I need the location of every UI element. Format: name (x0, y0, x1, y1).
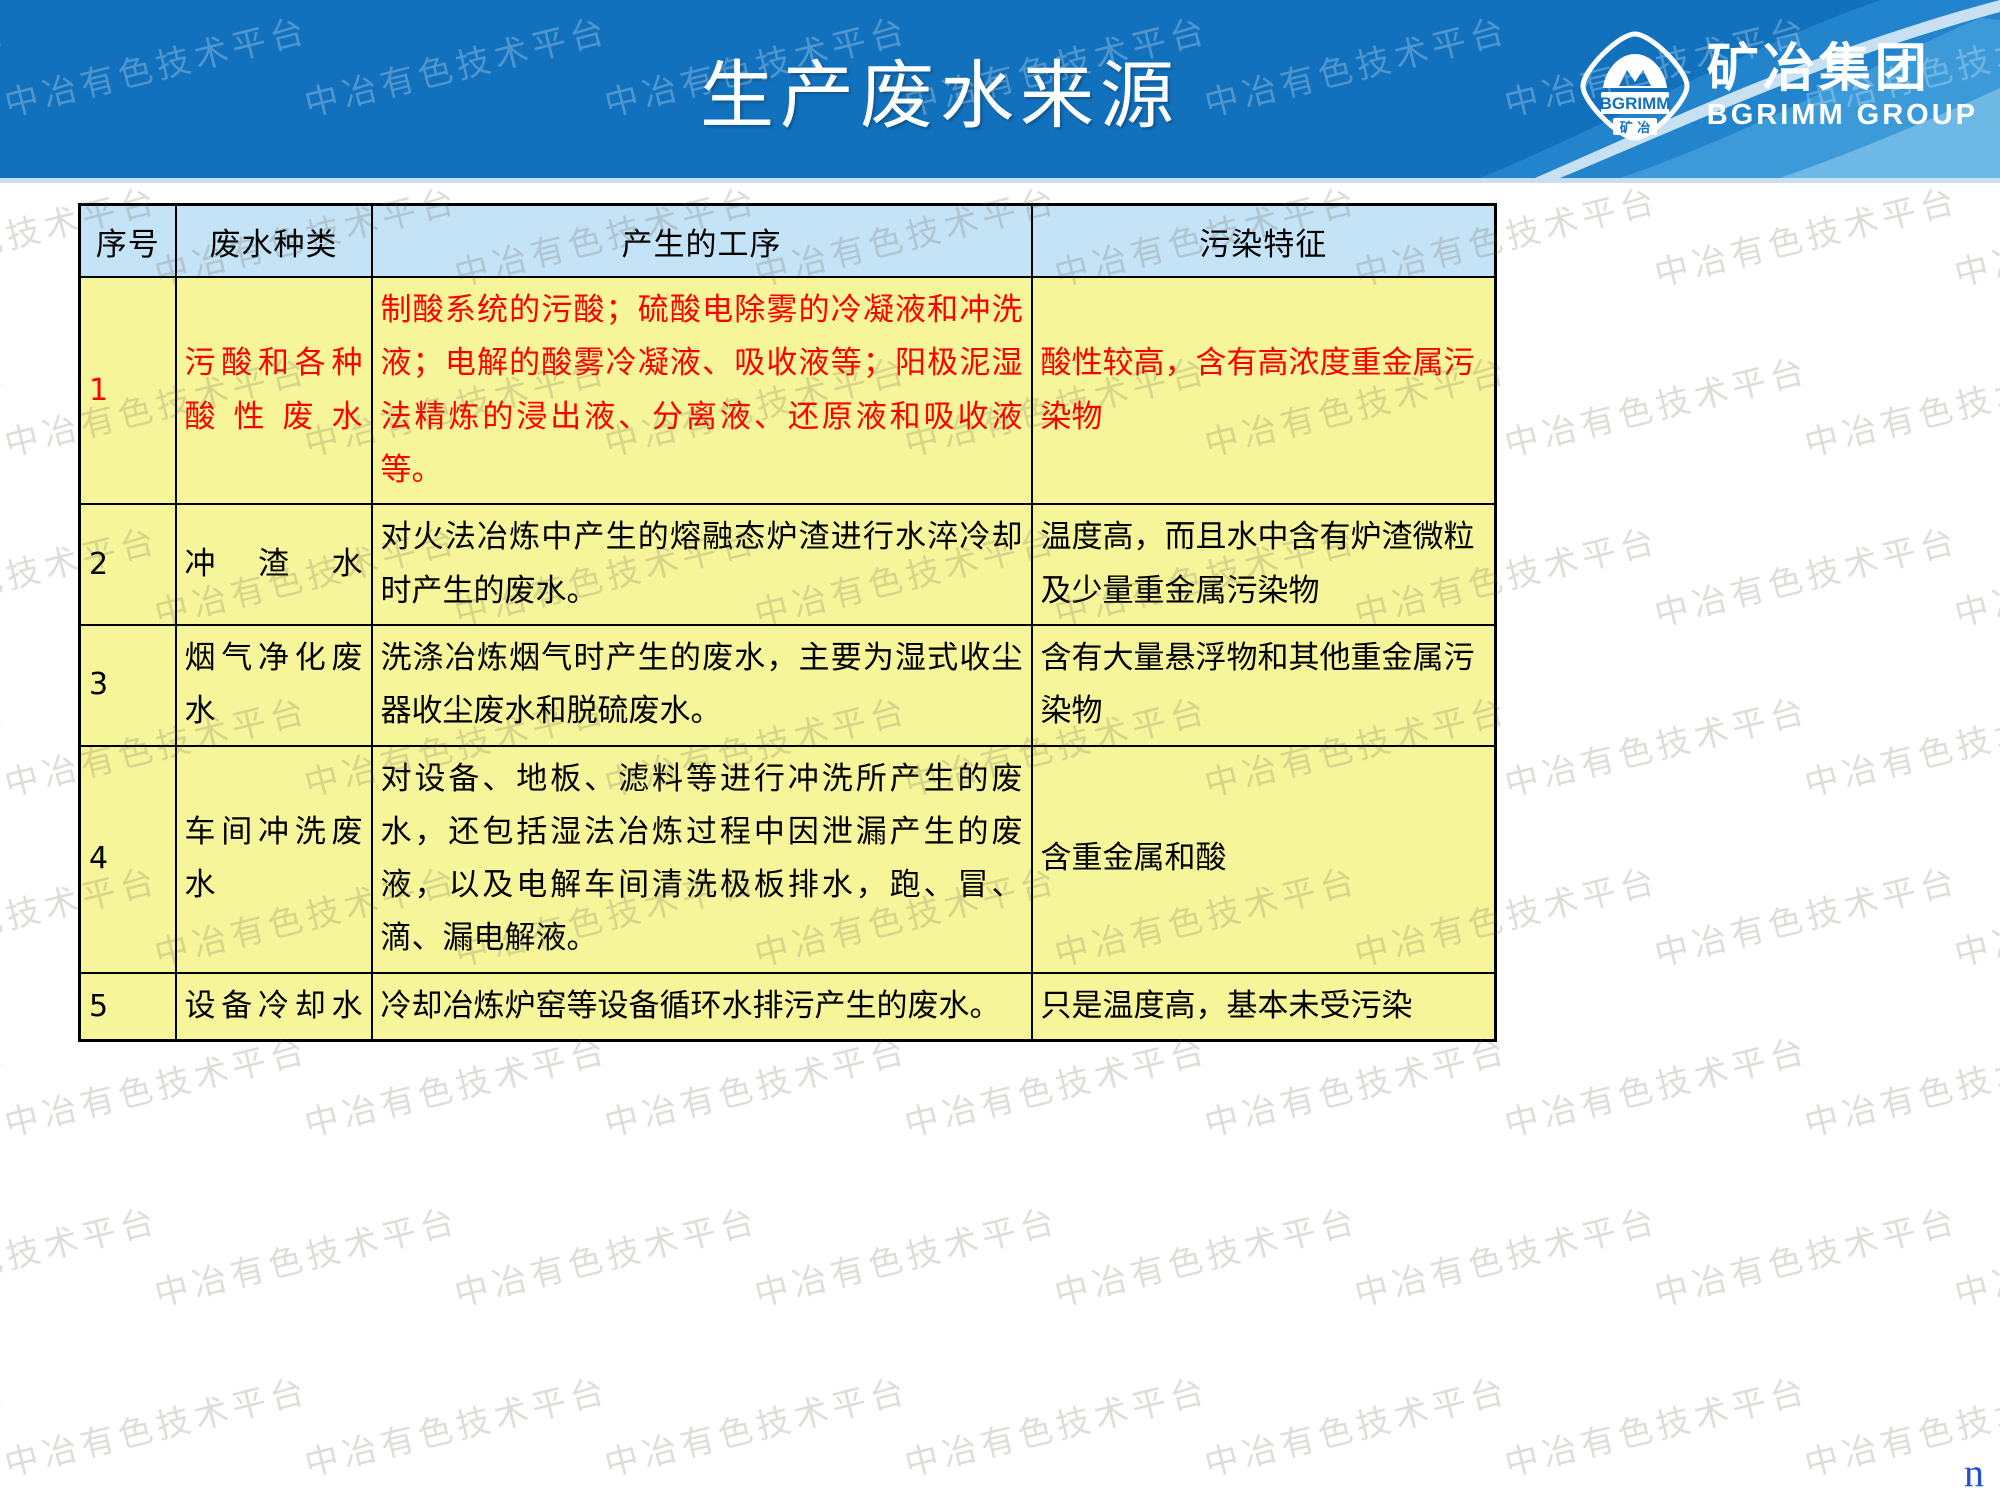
column-header-no: 序号 (80, 205, 176, 278)
cell-process: 对设备、地板、滤料等进行冲洗所产生的废水，还包括湿法冶炼过程中因泄漏产生的废液，… (372, 746, 1032, 973)
cell-type: 烟气净化废水 (176, 625, 372, 746)
watermark-text: 中冶有色技术平台 (1949, 513, 2000, 636)
table-row: 4 车间冲洗废水 对设备、地板、滤料等进行冲洗所产生的废水，还包括湿法冶炼过程中… (80, 746, 1496, 973)
watermark-text: 中冶有色技术平台 (1949, 1193, 2000, 1316)
cell-type: 污酸和各种酸性废水 (176, 277, 372, 504)
corner-text: n (1964, 1449, 1984, 1496)
wastewater-sources-table: 序号 废水种类 产生的工序 污染特征 1 污酸和各种酸性废水 制酸系统的污酸；硫… (78, 203, 1497, 1042)
cell-feature: 含重金属和酸 (1032, 746, 1496, 973)
header-banner: 生产废水来源 BGRIMM 矿 冶 矿冶集团 BGRIMM GROUP (0, 0, 2000, 178)
cell-feature: 温度高，而且水中含有炉渣微粒及少量重金属污染物 (1032, 504, 1496, 625)
watermark-text: 中冶有色技术平台 (1049, 1193, 1364, 1316)
cell-feature: 酸性较高，含有高浓度重金属污染物 (1032, 277, 1496, 504)
watermark-text: 中冶有色技术平台 (1949, 853, 2000, 976)
watermark-text: 中冶有色技术平台 (0, 1023, 13, 1146)
table-row: 5 设备冷却水 冷却冶炼炉窑等设备循环水排污产生的废水。 只是温度高，基本未受污… (80, 973, 1496, 1041)
column-header-feature: 污染特征 (1032, 205, 1496, 278)
watermark-text: 中冶有色技术平台 (1499, 343, 1814, 466)
cell-process: 制酸系统的污酸；硫酸电除雾的冷凝液和冲洗液；电解的酸雾冷凝液、吸收液等；阳极泥湿… (372, 277, 1032, 504)
cell-type: 设备冷却水 (176, 973, 372, 1041)
logo-company-en: BGRIMM GROUP (1707, 101, 1978, 130)
watermark-text: 中冶有色技术平台 (1949, 173, 2000, 296)
cell-no: 5 (80, 973, 176, 1041)
cell-process: 冷却冶炼炉窑等设备循环水排污产生的废水。 (372, 973, 1032, 1041)
table-row: 2 冲渣水 对火法冶炼中产生的熔融态炉渣进行水淬冷却时产生的废水。 温度高，而且… (80, 504, 1496, 625)
cell-process: 洗涤冶炼烟气时产生的废水，主要为湿式收尘器收尘废水和脱硫废水。 (372, 625, 1032, 746)
watermark-text: 中冶有色技术平台 (1649, 513, 1964, 636)
cell-no: 1 (80, 277, 176, 504)
watermark-text: 中冶有色技术平台 (1499, 1023, 1814, 1146)
watermark-text: 中冶有色技术平台 (1499, 683, 1814, 806)
watermark-text: 中冶有色技术平台 (1799, 1023, 2000, 1146)
cell-process: 对火法冶炼中产生的熔融态炉渣进行水淬冷却时产生的废水。 (372, 504, 1032, 625)
logo-company-cn: 矿冶集团 (1707, 43, 1978, 95)
cell-feature: 含有大量悬浮物和其他重金属污染物 (1032, 625, 1496, 746)
watermark-text: 中冶有色技术平台 (599, 1363, 914, 1486)
watermark-text: 中冶有色技术平台 (1649, 1193, 1964, 1316)
svg-text:BGRIMM: BGRIMM (1599, 94, 1670, 113)
watermark-text: 中冶有色技术平台 (1199, 1363, 1514, 1486)
logo-text-block: 矿冶集团 BGRIMM GROUP (1707, 43, 1978, 130)
table-row: 1 污酸和各种酸性废水 制酸系统的污酸；硫酸电除雾的冷凝液和冲洗液；电解的酸雾冷… (80, 277, 1496, 504)
column-header-type: 废水种类 (176, 205, 372, 278)
cell-no: 3 (80, 625, 176, 746)
column-header-process: 产生的工序 (372, 205, 1032, 278)
watermark-text: 中冶有色技术平台 (749, 1193, 1064, 1316)
watermark-text: 中冶有色技术平台 (1799, 343, 2000, 466)
watermark-text: 中冶有色技术平台 (449, 1193, 764, 1316)
cell-no: 4 (80, 746, 176, 973)
bgrimm-logo: BGRIMM 矿 冶 矿冶集团 BGRIMM GROUP (1579, 30, 1978, 142)
cell-type: 冲渣水 (176, 504, 372, 625)
watermark-text: 中冶有色技术平台 (1799, 683, 2000, 806)
table-row: 3 烟气净化废水 洗涤冶炼烟气时产生的废水，主要为湿式收尘器收尘废水和脱硫废水。… (80, 625, 1496, 746)
wastewater-table-container: 序号 废水种类 产生的工序 污染特征 1 污酸和各种酸性废水 制酸系统的污酸；硫… (78, 203, 1494, 1042)
bgrimm-mark-icon: BGRIMM 矿 冶 (1579, 30, 1691, 142)
svg-text:矿 冶: 矿 冶 (1620, 120, 1651, 136)
watermark-text: 中冶有色技术平台 (1649, 173, 1964, 296)
watermark-text: 中冶有色技术平台 (0, 343, 13, 466)
watermark-text: 中冶有色技术平台 (149, 1193, 464, 1316)
cell-type: 车间冲洗废水 (176, 746, 372, 973)
cell-no: 2 (80, 504, 176, 625)
watermark-text: 中冶有色技术平台 (0, 1363, 313, 1486)
watermark-text: 中冶有色技术平台 (299, 1363, 614, 1486)
cell-feature: 只是温度高，基本未受污染 (1032, 973, 1496, 1041)
table-header-row: 序号 废水种类 产生的工序 污染特征 (80, 205, 1496, 278)
banner-underline (0, 178, 2000, 183)
watermark-text: 中冶有色技术平台 (0, 1193, 163, 1316)
watermark-text: 中冶有色技术平台 (0, 1363, 13, 1486)
watermark-text: 中冶有色技术平台 (1349, 1193, 1664, 1316)
watermark-text: 中冶有色技术平台 (1499, 1363, 1814, 1486)
watermark-text: 中冶有色技术平台 (899, 1363, 1214, 1486)
watermark-text: 中冶有色技术平台 (0, 683, 13, 806)
watermark-text: 中冶有色技术平台 (1649, 853, 1964, 976)
